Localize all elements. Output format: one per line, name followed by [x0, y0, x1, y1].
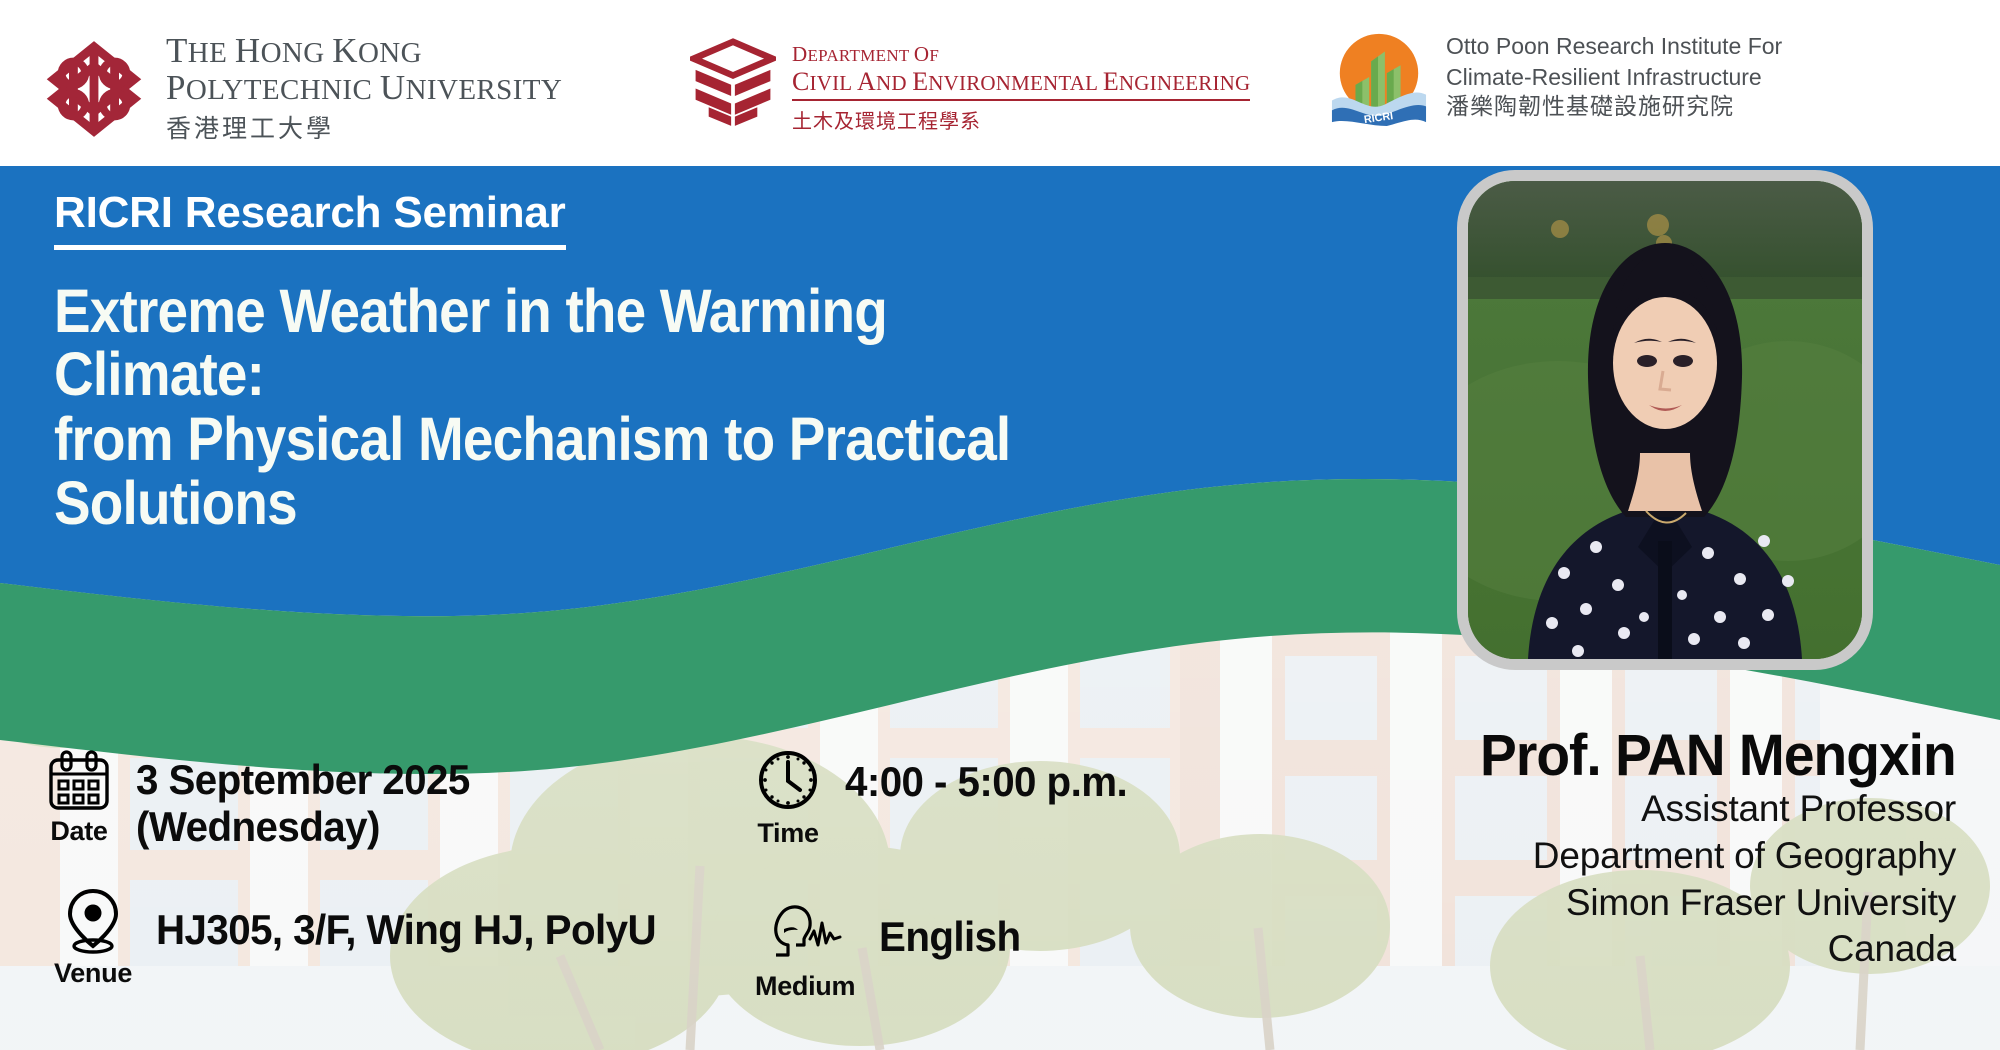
ricri-chinese: 潘樂陶韌性基礎設施研究院 — [1446, 92, 1782, 122]
calendar-icon — [46, 750, 112, 812]
detail-time: Time 4:00 - 5:00 p.m. — [755, 750, 1139, 849]
polyu-logo: THE HONG KONG POLYTECHNIC UNIVERSITY 香港理… — [40, 32, 562, 145]
seminar-poster: THE HONG KONG POLYTECHNIC UNIVERSITY 香港理… — [0, 0, 2000, 1050]
cee-line1: DEPARTMENT OF — [792, 42, 1250, 67]
details-column-middle: Time 4:00 - 5:00 p.m. Medium English — [755, 750, 1139, 1002]
detail-medium: Medium English — [755, 899, 1139, 1002]
cee-logo: DEPARTMENT OF CIVIL AND ENVIRONMENTAL EN… — [690, 38, 1250, 134]
polyu-name-line1: THE HONG KONG — [166, 32, 562, 69]
ricri-logo: RICRI Otto Poon Research Institute For C… — [1330, 28, 1782, 126]
polyu-name-line2: POLYTECHNIC UNIVERSITY — [166, 69, 562, 106]
time-icon-wrap: Time — [755, 750, 821, 849]
logo-header: THE HONG KONG POLYTECHNIC UNIVERSITY 香港理… — [0, 0, 2000, 166]
seminar-kicker: RICRI Research Seminar — [54, 188, 566, 250]
speaker-department: Department of Geography — [1455, 833, 1956, 880]
venue-label: Venue — [54, 958, 132, 989]
clock-icon — [755, 750, 821, 814]
venue-icon-wrap: Venue — [54, 888, 132, 989]
details-column-left: Date 3 September 2025 (Wednesday) Venue … — [46, 750, 677, 989]
speaker-portrait — [1457, 170, 1873, 670]
title-block: RICRI Research Seminar Extreme Weather i… — [54, 188, 1154, 537]
speaker-title: Assistant Professor — [1455, 786, 1956, 833]
ricri-buildings-wave-icon: RICRI — [1330, 28, 1428, 126]
detail-date: Date 3 September 2025 (Wednesday) — [46, 750, 677, 850]
speaker-country: Canada — [1455, 926, 1956, 973]
polyu-name-chinese: 香港理工大學 — [166, 109, 562, 145]
time-label: Time — [757, 818, 818, 849]
speaker-institution: Simon Fraser University — [1455, 880, 1956, 927]
polyu-knot-icon — [40, 39, 148, 139]
cee-line2: CIVIL AND ENVIRONMENTAL ENGINEERING — [792, 67, 1250, 101]
title-line-2: from Physical Mechanism to Practical — [54, 408, 1044, 471]
speaker-info: Prof. PAN Mengxin Assistant Professor De… — [1455, 726, 1956, 973]
title-line-3: Solutions — [54, 472, 1044, 535]
venue-value: HJ305, 3/F, Wing HJ, PolyU — [156, 906, 656, 953]
medium-value: English — [879, 913, 1021, 960]
date-value: 3 September 2025 (Wednesday) — [136, 756, 470, 850]
seminar-title: Extreme Weather in the Warming Climate: … — [54, 280, 1044, 535]
ricri-line2: Climate-Resilient Infrastructure — [1446, 62, 1782, 92]
location-pin-icon — [65, 888, 121, 954]
speaking-head-icon — [766, 899, 844, 967]
medium-label: Medium — [755, 971, 855, 1002]
date-label: Date — [50, 816, 107, 847]
speaker-name: Prof. PAN Mengxin — [1480, 726, 1956, 786]
ricri-line1: Otto Poon Research Institute For — [1446, 31, 1782, 61]
date-icon-wrap: Date — [46, 750, 112, 847]
cee-chinese: 土木及環境工程學系 — [792, 105, 1250, 134]
detail-venue: Venue HJ305, 3/F, Wing HJ, PolyU — [46, 888, 677, 989]
time-value: 4:00 - 5:00 p.m. — [845, 758, 1127, 805]
cee-stacked-blocks-icon — [690, 38, 776, 126]
title-line-1: Extreme Weather in the Warming Climate: — [54, 280, 1044, 406]
medium-icon-wrap: Medium — [755, 899, 855, 1002]
